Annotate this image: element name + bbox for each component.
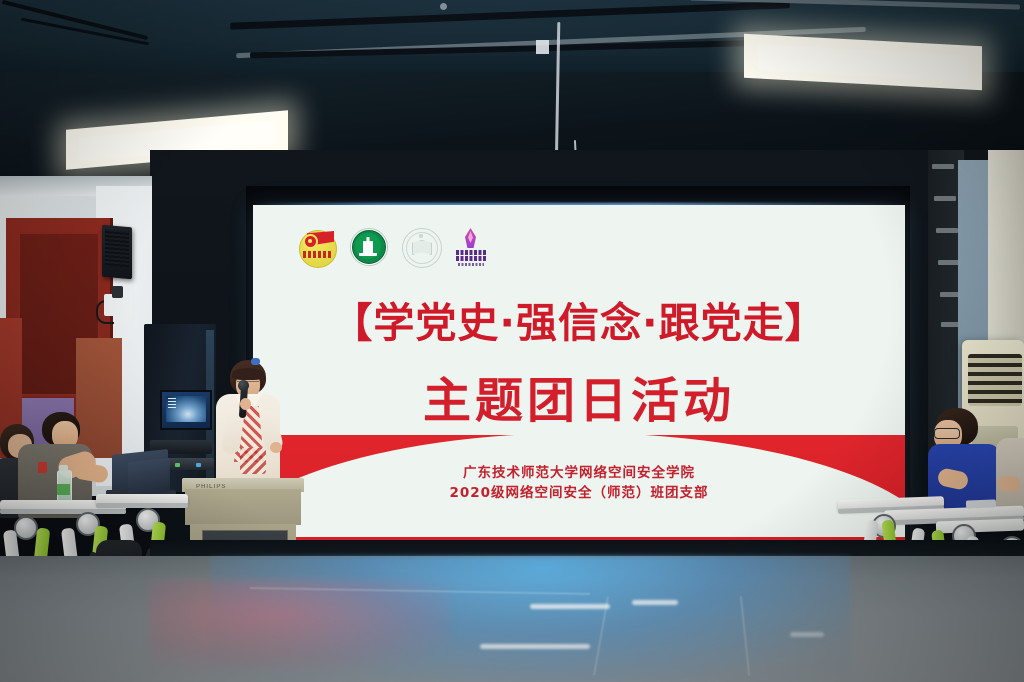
- presenter-shirt-pattern-lower: [240, 448, 266, 474]
- beacon-project-logo-icon: [454, 226, 488, 270]
- ceiling-lamp-2-diffuser: [758, 44, 967, 81]
- beacon-wordmark-line-3: [458, 263, 484, 266]
- floor-light-streak-1: [530, 604, 610, 609]
- cyl-text-glyphs: [303, 251, 331, 258]
- rack-led-blue: [196, 463, 201, 467]
- desk-left-hub-1: [14, 516, 38, 540]
- podium-body: [185, 489, 301, 525]
- ceiling-sensor: [440, 3, 447, 10]
- beacon-wordmark-line-1: [456, 250, 486, 255]
- monitor-desktop-icons: [168, 398, 176, 408]
- column-light-slat: [932, 164, 954, 169]
- floor-light-streak-4: [790, 632, 824, 637]
- floor-light-streak-2: [632, 600, 678, 605]
- monitor-screen-content: [166, 396, 206, 422]
- column-light-slat: [938, 260, 960, 265]
- water-bottle-cap: [59, 465, 68, 471]
- student-right-back-hand: [998, 476, 1020, 492]
- laptop-left-screen-2[interactable]: [128, 458, 170, 496]
- communist-youth-league-emblem-icon: [297, 226, 337, 268]
- emblem-star-dot: [419, 234, 423, 238]
- university-logo-base-glyph: [359, 253, 377, 256]
- presenter-fringe: [232, 368, 264, 380]
- desk-left-1-edge: [0, 509, 126, 514]
- camera-lens-icon: [112, 286, 123, 298]
- podium-brand-label: PHILIPS: [196, 484, 226, 490]
- student-right-back: [996, 414, 1024, 514]
- phone-on-desk-right[interactable]: [966, 499, 996, 508]
- presenter-hand-holding-mic: [240, 398, 251, 410]
- slide-logo-row: [297, 226, 488, 270]
- column-light-slat: [934, 196, 956, 201]
- microphone-head-icon: [238, 380, 249, 391]
- cable-junction-box: [536, 40, 549, 54]
- projector-screen[interactable]: 【学党史·强信念·跟党走】 主题团日活动 广东技术师范大学网络空间安全学院 20…: [253, 205, 905, 553]
- beacon-wordmark-line-2: [456, 256, 486, 261]
- university-logo-icon: [350, 226, 388, 266]
- presenter: [206, 360, 290, 492]
- student-left-front-badge: [38, 462, 47, 473]
- speaker-grille: [105, 229, 129, 267]
- cyl-star-icon: [303, 234, 318, 249]
- wall-camera-icon: [104, 294, 132, 316]
- slide-subtitle-line-1: 广东技术师范大学网络空间安全学院: [253, 463, 905, 483]
- slide-title-line-1: 【学党史·强信念·跟党走】: [253, 289, 905, 349]
- wall-speaker-icon: [102, 225, 132, 280]
- rack-monitor[interactable]: [160, 390, 212, 430]
- rack-led-green: [175, 463, 180, 467]
- slide-subtitle-line-2: 2020级网络空间安全（师范）班团支部: [253, 483, 905, 503]
- student-right-glasses: [934, 428, 960, 439]
- air-conditioner-vents: [968, 354, 1022, 406]
- floor-light-streak-3: [480, 644, 590, 649]
- water-bottle-label: [57, 484, 70, 495]
- desk-left-2-edge: [96, 503, 188, 508]
- floor-pink-reflection: [150, 580, 450, 670]
- column-light-slat: [936, 228, 958, 233]
- faint-book-emblem-icon: [401, 226, 441, 268]
- presenter-gesturing-hand: [270, 442, 282, 453]
- slide-subtitle: 广东技术师范大学网络空间安全学院 2020级网络空间安全（师范）班团支部: [253, 463, 905, 503]
- presenter-hair-clip: [251, 358, 260, 365]
- classroom-photo-scene: 【学党史·强信念·跟党走】 主题团日活动 广东技术师范大学网络空间安全学院 20…: [0, 0, 1024, 682]
- slide-title-line-2: 主题团日活动: [253, 361, 905, 431]
